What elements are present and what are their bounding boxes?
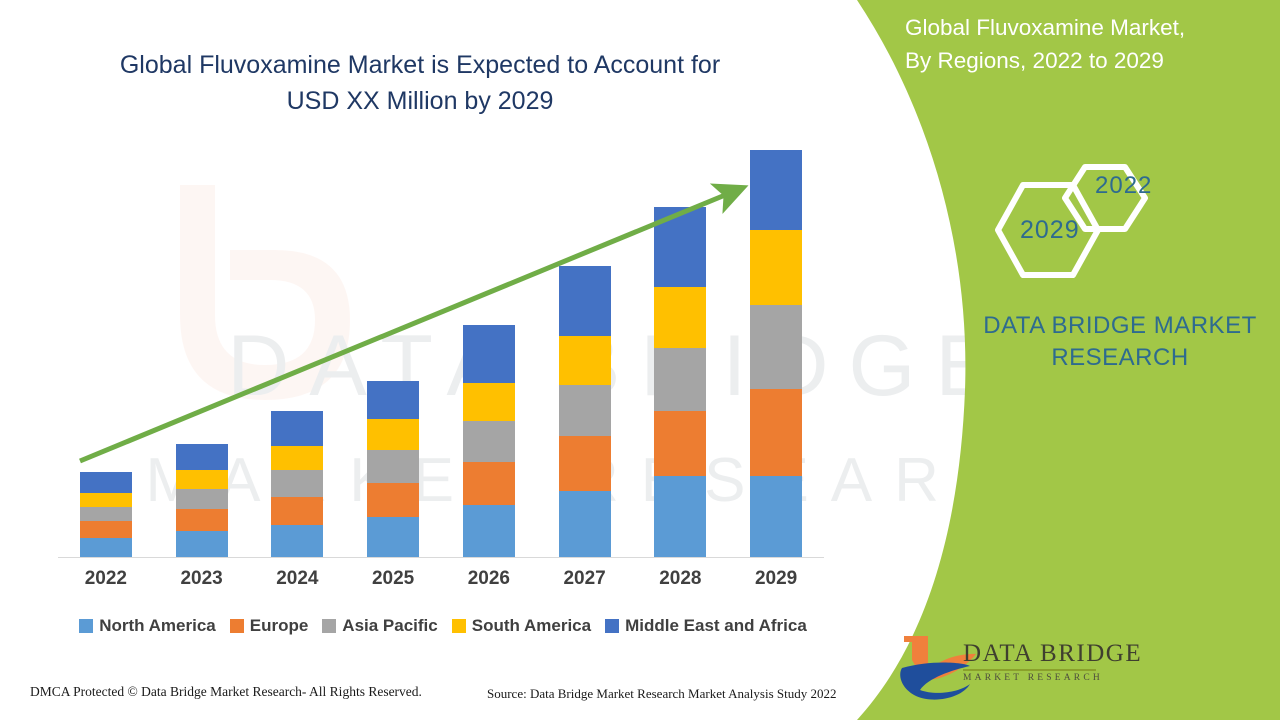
bar-stack [367, 381, 419, 558]
panel-title-line-2: By Regions, 2022 to 2029 [905, 45, 1265, 78]
bar-segment [367, 517, 419, 558]
bar-segment [654, 411, 706, 476]
bar-segment [176, 531, 228, 558]
footer-source: Source: Data Bridge Market Research Mark… [487, 686, 836, 702]
bar-segment [367, 381, 419, 420]
logo-sub-text: MARKET RESEARCH [963, 673, 1142, 683]
legend-swatch-icon [605, 619, 619, 633]
bar-segment [559, 336, 611, 385]
bar-segment [80, 538, 132, 558]
bar-segment [750, 150, 802, 230]
bar-segment [463, 505, 515, 558]
bar-segment [750, 476, 802, 558]
bar-stack [654, 207, 706, 558]
bar-segment [176, 470, 228, 488]
bar-segment [559, 491, 611, 558]
bar-column-2025 [345, 150, 441, 558]
bar-segment [271, 470, 323, 497]
bar-segment [367, 483, 419, 518]
bar-column-2029 [728, 150, 824, 558]
legend-item[interactable]: Asia Pacific [322, 616, 437, 636]
logo-text: DATA BRIDGE MARKET RESEARCH [963, 641, 1142, 683]
bar-stack [463, 325, 515, 558]
bar-stack [271, 411, 323, 558]
bar-column-2028 [633, 150, 729, 558]
legend-label: South America [472, 616, 591, 636]
x-axis-label-2025: 2025 [345, 568, 441, 590]
bar-segment [750, 305, 802, 389]
bar-segment [80, 507, 132, 521]
bar-segment [463, 383, 515, 422]
bar-segment [271, 497, 323, 526]
x-axis-label-2023: 2023 [154, 568, 250, 590]
legend-swatch-icon [79, 619, 93, 633]
legend-swatch-icon [322, 619, 336, 633]
bar-segment [750, 389, 802, 477]
bar-segment [176, 444, 228, 471]
x-axis-label-2026: 2026 [441, 568, 537, 590]
infographic-slide: DATA BRIDGE MARKET RESEARCH Global Fluvo… [0, 0, 1280, 720]
legend-label: North America [99, 616, 216, 636]
x-axis-line [58, 557, 824, 558]
legend-label: Europe [250, 616, 309, 636]
x-axis-label-2029: 2029 [728, 568, 824, 590]
hexagon-label-2029: 2029 [1020, 216, 1080, 245]
x-axis-label-2027: 2027 [537, 568, 633, 590]
panel-title: Global Fluvoxamine Market, By Regions, 2… [905, 12, 1265, 77]
bar-segment [367, 450, 419, 483]
hexagon-label-2022: 2022 [1095, 172, 1152, 200]
chart-legend: North AmericaEuropeAsia PacificSouth Ame… [58, 616, 828, 636]
bar-column-2022 [58, 150, 154, 558]
logo-divider [963, 669, 1096, 671]
chart-title-line-1: Global Fluvoxamine Market is Expected to… [70, 48, 770, 84]
legend-item[interactable]: Europe [230, 616, 309, 636]
bar-segment [559, 385, 611, 436]
bar-segment [80, 493, 132, 507]
bar-stack [750, 150, 802, 558]
bar-column-2026 [441, 150, 537, 558]
brand-name-line-2: RESEARCH [960, 342, 1280, 374]
legend-label: Asia Pacific [342, 616, 437, 636]
bar-column-2023 [154, 150, 250, 558]
bar-segment [463, 421, 515, 462]
hexagon-badges-icon [975, 145, 1205, 295]
x-axis-label-2022: 2022 [58, 568, 154, 590]
bar-segment [80, 472, 132, 492]
bar-segment [463, 462, 515, 505]
bar-column-2027 [537, 150, 633, 558]
bar-stack [80, 472, 132, 558]
bar-segment [559, 436, 611, 491]
stacked-bar-chart [58, 150, 824, 558]
bar-segment [80, 521, 132, 537]
legend-swatch-icon [452, 619, 466, 633]
bar-segment [271, 525, 323, 558]
legend-item[interactable]: South America [452, 616, 591, 636]
legend-item[interactable]: Middle East and Africa [605, 616, 807, 636]
x-axis-labels: 20222023202420252026202720282029 [58, 568, 824, 590]
bar-stack [176, 444, 228, 558]
footer-copyright: DMCA Protected © Data Bridge Market Rese… [30, 684, 422, 700]
bar-segment [559, 266, 611, 335]
bar-segment [750, 230, 802, 305]
chart-title-line-2: USD XX Million by 2029 [70, 84, 770, 120]
bar-stack [559, 266, 611, 558]
logo-main-text: DATA BRIDGE [963, 641, 1142, 666]
bar-segment [176, 489, 228, 509]
bar-segment [176, 509, 228, 531]
bar-segment [654, 348, 706, 411]
bar-segment [654, 287, 706, 348]
panel-title-line-1: Global Fluvoxamine Market, [905, 12, 1265, 45]
bar-column-2024 [250, 150, 346, 558]
bar-segment [654, 207, 706, 287]
bar-segment [463, 325, 515, 382]
brand-name: DATA BRIDGE MARKET RESEARCH [960, 310, 1280, 375]
legend-label: Middle East and Africa [625, 616, 807, 636]
x-axis-label-2028: 2028 [633, 568, 729, 590]
bar-segment [271, 411, 323, 446]
brand-name-line-1: DATA BRIDGE MARKET [960, 310, 1280, 342]
bar-segment [367, 419, 419, 450]
chart-title: Global Fluvoxamine Market is Expected to… [70, 48, 770, 119]
x-axis-label-2024: 2024 [250, 568, 346, 590]
bar-segment [271, 446, 323, 470]
legend-swatch-icon [230, 619, 244, 633]
bar-segment [654, 476, 706, 558]
legend-item[interactable]: North America [79, 616, 216, 636]
